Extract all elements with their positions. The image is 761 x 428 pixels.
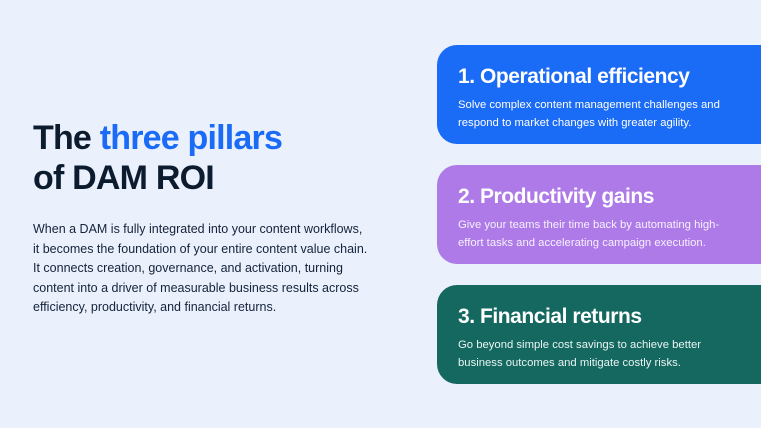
pillar-card-financial-returns: 3. Financial returns Go beyond simple co… [437, 285, 761, 384]
page-title-line-1: The three pillars [33, 118, 408, 158]
page-title-prefix: The [33, 119, 100, 157]
pillar-card-description: Solve complex content management challen… [458, 96, 727, 132]
pillar-card-title: 2. Productivity gains [458, 184, 727, 209]
left-content-column: The three pillars of DAM ROI When a DAM … [33, 118, 408, 318]
slide-canvas: The three pillars of DAM ROI When a DAM … [0, 0, 761, 428]
body-line: content into a driver of measurable busi… [33, 279, 408, 299]
body-line: When a DAM is fully integrated into your… [33, 220, 408, 240]
pillar-card-description-line: business outcomes and mitigate costly ri… [458, 354, 727, 372]
page-title-accent: three pillars [100, 119, 282, 157]
page-title-line-2: of DAM ROI [33, 158, 408, 198]
pillar-card-productivity-gains: 2. Productivity gains Give your teams th… [437, 165, 761, 264]
pillar-card-list: 1. Operational efficiency Solve complex … [437, 45, 761, 384]
pillar-card-description: Give your teams their time back by autom… [458, 216, 727, 252]
pillar-card-description: Go beyond simple cost savings to achieve… [458, 336, 727, 372]
body-line: efficiency, productivity, and financial … [33, 298, 408, 318]
body-line: it becomes the foundation of your entire… [33, 240, 408, 260]
pillar-card-title: 1. Operational efficiency [458, 64, 727, 89]
pillar-card-description-line: effort tasks and accelerating campaign e… [458, 234, 727, 252]
pillar-card-description-line: respond to market changes with greater a… [458, 114, 727, 132]
body-line: It connects creation, governance, and ac… [33, 259, 408, 279]
pillar-card-description-line: Solve complex content management challen… [458, 96, 727, 114]
pillar-card-description-line: Go beyond simple cost savings to achieve… [458, 336, 727, 354]
pillar-card-description-line: Give your teams their time back by autom… [458, 216, 727, 234]
pillar-card-operational-efficiency: 1. Operational efficiency Solve complex … [437, 45, 761, 144]
body-paragraph: When a DAM is fully integrated into your… [33, 220, 408, 318]
page-title: The three pillars of DAM ROI [33, 118, 408, 198]
pillar-card-title: 3. Financial returns [458, 304, 727, 329]
